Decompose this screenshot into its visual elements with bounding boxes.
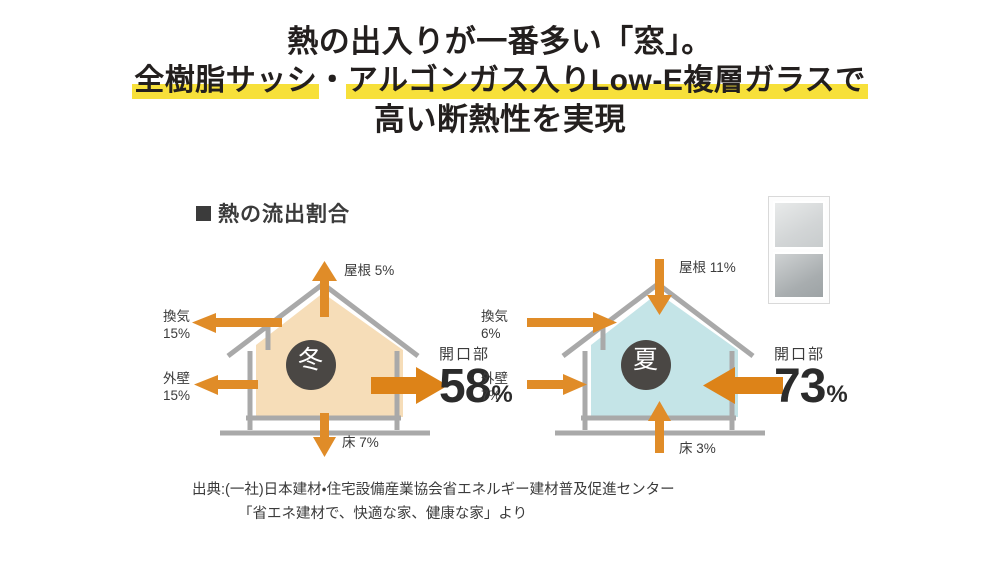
title-separator: ・ <box>317 64 348 97</box>
square-bullet-icon <box>196 206 211 221</box>
summer-label-ventilation-value: 6% <box>481 326 501 341</box>
title-line-3: 高い断熱性を実現 <box>0 100 1000 139</box>
title-line-1: 熱の出入りが一番多い「窓」。 <box>0 22 1000 61</box>
source-citation: 出典:(一社)日本建材・住宅設備産業協会省エネルギー建材普及促進センター 「省エ… <box>192 478 675 526</box>
section-heading: 熱の流出割合 <box>196 198 350 228</box>
window-pane-upper <box>773 201 825 249</box>
summer-opening-stat: 開口部 73% <box>774 343 848 412</box>
summer-label-floor: 床 3% <box>679 441 716 457</box>
title-line-2: 全樹脂サッシ・アルゴンガス入りLow-E複層ガラスで <box>0 61 1000 100</box>
house-diagram-winter: 冬 屋根 5% 換気 15% 外壁 15% 床 7% 開口部 58% <box>168 255 528 470</box>
summer-label-wall-name: 外壁 <box>481 371 508 386</box>
source-line-1: 出典:(一社)日本建材・住宅設備産業協会省エネルギー建材普及促進センター <box>192 482 675 498</box>
summer-opening-value: 73 <box>774 360 825 413</box>
winter-season-badge-label: 冬 <box>298 352 323 368</box>
summer-label-wall: 外壁 7% <box>481 370 508 404</box>
title-block: 熱の出入りが一番多い「窓」。 全樹脂サッシ・アルゴンガス入りLow-E複層ガラス… <box>0 22 1000 139</box>
title-highlight-b: アルゴンガス入りLow-E複層ガラスで <box>348 61 866 100</box>
winter-label-wall-value: 15% <box>163 388 190 403</box>
house-diagram-summer: 夏 屋根 11% 換気 6% 外壁 7% 床 3% 開口部 73% <box>503 255 863 470</box>
title-highlight-a: 全樹脂サッシ <box>134 61 317 100</box>
summer-arrow-wall <box>527 374 587 395</box>
winter-label-wall-name: 外壁 <box>163 371 190 386</box>
winter-label-wall: 外壁 15% <box>163 370 190 404</box>
summer-label-roof: 屋根 11% <box>679 260 736 276</box>
winter-label-ventilation: 換気 15% <box>163 308 190 342</box>
winter-label-floor: 床 7% <box>342 435 379 451</box>
summer-label-ventilation: 換気 6% <box>481 308 508 342</box>
winter-label-ventilation-name: 換気 <box>163 309 190 324</box>
winter-label-ventilation-value: 15% <box>163 326 190 341</box>
summer-label-wall-value: 7% <box>481 388 501 403</box>
summer-opening-unit: % <box>826 381 847 408</box>
section-heading-label: 熱の流出割合 <box>218 198 350 228</box>
summer-season-badge-label: 夏 <box>633 352 658 368</box>
winter-label-roof: 屋根 5% <box>344 263 394 279</box>
summer-label-ventilation-name: 換気 <box>481 309 508 324</box>
source-line-2: 「省エネ建材で、快適な家、健康な家」より <box>192 502 675 526</box>
slide-canvas: 熱の出入りが一番多い「窓」。 全樹脂サッシ・アルゴンガス入りLow-E複層ガラス… <box>0 0 1000 563</box>
